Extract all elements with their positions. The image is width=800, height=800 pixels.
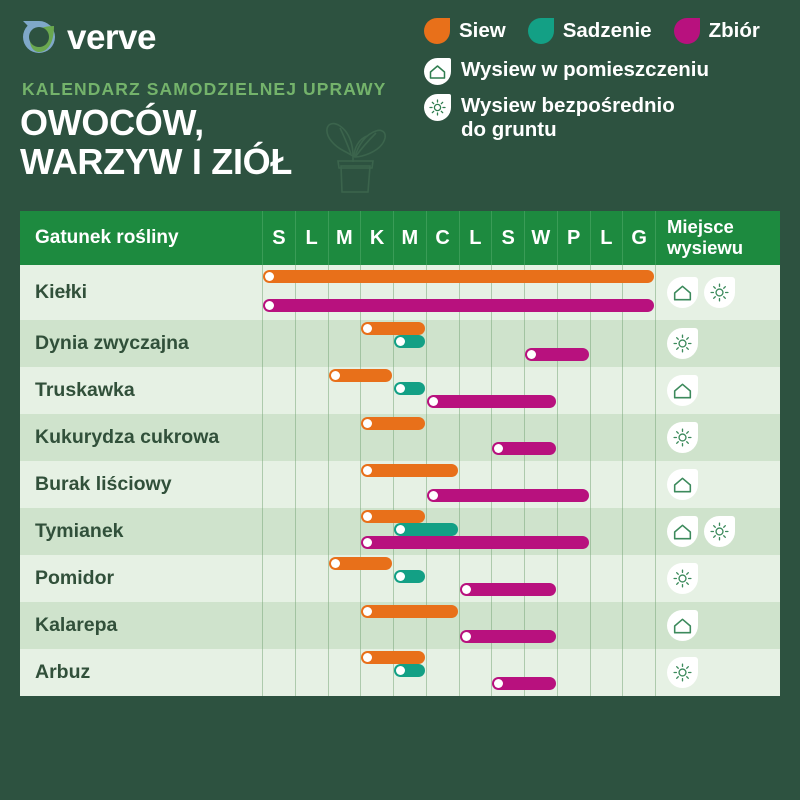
column-header-month-6: C (426, 211, 459, 265)
month-track (262, 508, 655, 555)
bar-start-dot (396, 525, 405, 534)
grid-line (590, 461, 591, 508)
sowing-place-cell (655, 649, 780, 696)
grid-line (459, 320, 460, 367)
bar-sadzenie (394, 664, 425, 677)
table-row: Truskawka (20, 367, 780, 414)
bar-start-dot (331, 371, 340, 380)
grid-line (590, 602, 591, 649)
column-header-place-line2: wysiewu (667, 237, 743, 258)
bar-start-dot (363, 653, 372, 662)
grid-line (590, 367, 591, 414)
potted-plant-outline-icon (306, 104, 401, 204)
bar-siew (361, 417, 425, 430)
sun-icon (667, 422, 698, 453)
grid-line (557, 555, 558, 602)
month-track (262, 602, 655, 649)
grid-line (557, 602, 558, 649)
bar-start-dot (265, 301, 274, 310)
grid-line (426, 649, 427, 696)
grid-line (328, 414, 329, 461)
bar-start-dot (462, 632, 471, 641)
legend: Siew Sadzenie Zbiór Wysiew w pomieszczen… (424, 18, 794, 141)
plant-name: Dynia zwyczajna (20, 320, 262, 367)
bar-siew (329, 557, 393, 570)
grid-line (295, 414, 296, 461)
bar-sadzenie (394, 570, 425, 583)
column-headers-months: SLMKMCLSWPLG (262, 211, 655, 265)
bar-zbior (492, 677, 556, 690)
legend-label-outdoor: Wysiew bezpośrednio do gruntu (461, 94, 675, 141)
planting-calendar-table: Gatunek rośliny SLMKMCLSWPLG Miejsce wys… (20, 211, 780, 696)
legend-label-indoor: Wysiew w pomieszczeniu (461, 58, 709, 82)
kicker-text: KALENDARZ SAMODZIELNEJ UPRAWY (22, 79, 386, 100)
grid-line (622, 461, 623, 508)
grid-line (491, 414, 492, 461)
bar-sadzenie (394, 382, 425, 395)
bar-siew (361, 605, 457, 618)
house-icon (667, 375, 698, 406)
page-title-line1: OWOCÓW, (20, 104, 292, 143)
grid-line (557, 367, 558, 414)
droplet-marker-icon (424, 18, 450, 44)
column-header-month-10: P (557, 211, 590, 265)
table-row: Tymianek (20, 508, 780, 555)
grid-line (590, 414, 591, 461)
bar-zbior (460, 630, 556, 643)
bar-start-dot (429, 491, 438, 500)
grid-line (426, 320, 427, 367)
grid-line (557, 414, 558, 461)
bar-zbior (263, 299, 654, 312)
column-header-month-9: W (524, 211, 557, 265)
sowing-place-cell (655, 508, 780, 555)
bar-siew (361, 322, 425, 335)
plant-name: Pomidor (20, 555, 262, 602)
bar-zbior (492, 442, 556, 455)
column-header-month-12: G (622, 211, 655, 265)
plant-name: Tymianek (20, 508, 262, 555)
sowing-place-cell (655, 602, 780, 649)
column-header-month-11: L (590, 211, 623, 265)
legend-label-outdoor-line1: Wysiew bezpośrednio (461, 94, 675, 117)
grid-line (262, 602, 263, 649)
column-header-place: Miejsce wysiewu (655, 211, 780, 265)
verve-droplet-leaf-logo-icon (20, 18, 58, 56)
grid-line (459, 649, 460, 696)
table-row: Arbuz (20, 649, 780, 696)
plant-name: Burak liściowy (20, 461, 262, 508)
legend-label-zbior: Zbiór (709, 19, 760, 43)
grid-line (426, 555, 427, 602)
grid-line (622, 367, 623, 414)
brand-logo: verve (20, 18, 156, 56)
house-icon (424, 58, 451, 85)
bar-start-dot (265, 272, 274, 281)
grid-line (590, 508, 591, 555)
sun-icon (704, 516, 735, 547)
table-row: Burak liściowy (20, 461, 780, 508)
legend-item-sadzenie: Sadzenie (528, 18, 652, 44)
bar-zbior (525, 348, 589, 361)
sowing-place-cell (655, 461, 780, 508)
page-title-line2: WARZYW I ZIÓŁ (20, 143, 292, 182)
grid-line (295, 461, 296, 508)
bar-start-dot (527, 350, 536, 359)
grid-line (524, 320, 525, 367)
sowing-place-cell (655, 414, 780, 461)
column-header-month-7: L (459, 211, 492, 265)
column-header-month-1: S (262, 211, 295, 265)
plant-name: Arbuz (20, 649, 262, 696)
sun-icon (667, 563, 698, 594)
bar-start-dot (331, 559, 340, 568)
house-icon (667, 277, 698, 308)
bar-siew (361, 510, 425, 523)
bar-siew (263, 270, 654, 283)
bar-start-dot (363, 466, 372, 475)
grid-line (459, 414, 460, 461)
legend-phase-row: Siew Sadzenie Zbiór (424, 18, 794, 44)
bar-start-dot (396, 337, 405, 346)
month-track (262, 367, 655, 414)
bar-start-dot (363, 607, 372, 616)
grid-line (295, 508, 296, 555)
sun-icon (704, 277, 735, 308)
sun-icon (424, 94, 451, 121)
sun-icon (667, 657, 698, 688)
grid-line (622, 602, 623, 649)
brand-name: verve (67, 20, 156, 55)
bar-sadzenie (394, 335, 425, 348)
column-header-place-line1: Miejsce (667, 216, 734, 237)
column-header-species: Gatunek rośliny (20, 211, 262, 265)
grid-line (262, 508, 263, 555)
grid-line (622, 414, 623, 461)
month-track (262, 320, 655, 367)
grid-line (328, 649, 329, 696)
grid-line (459, 555, 460, 602)
table-row: Kiełki (20, 265, 780, 320)
bar-zbior (361, 536, 588, 549)
sowing-place-cell (655, 320, 780, 367)
grid-line (622, 320, 623, 367)
grid-line (295, 649, 296, 696)
grid-line (262, 367, 263, 414)
month-track (262, 265, 655, 320)
plant-name: Truskawka (20, 367, 262, 414)
plant-name: Kalarepa (20, 602, 262, 649)
sowing-place-cell (655, 265, 780, 320)
sun-icon (667, 328, 698, 359)
droplet-marker-icon (674, 18, 700, 44)
legend-item-indoor: Wysiew w pomieszczeniu (424, 58, 794, 85)
grid-line (328, 508, 329, 555)
grid-line (590, 555, 591, 602)
grid-line (262, 414, 263, 461)
grid-line (295, 602, 296, 649)
table-header-row: Gatunek rośliny SLMKMCLSWPLG Miejsce wys… (20, 211, 780, 265)
bar-siew (361, 651, 425, 664)
grid-line (328, 602, 329, 649)
table-row: Dynia zwyczajna (20, 320, 780, 367)
grid-line (295, 555, 296, 602)
bar-zbior (427, 489, 589, 502)
grid-line (328, 461, 329, 508)
bar-siew (329, 369, 393, 382)
table-row: Pomidor (20, 555, 780, 602)
grid-line (622, 508, 623, 555)
bar-start-dot (494, 444, 503, 453)
legend-item-outdoor: Wysiew bezpośrednio do gruntu (424, 94, 794, 141)
bar-sadzenie (394, 523, 458, 536)
month-track (262, 461, 655, 508)
grid-line (491, 320, 492, 367)
bar-start-dot (396, 666, 405, 675)
bar-start-dot (396, 384, 405, 393)
bar-zbior (460, 583, 556, 596)
grid-line (426, 414, 427, 461)
bar-start-dot (363, 419, 372, 428)
house-icon (667, 469, 698, 500)
grid-line (328, 320, 329, 367)
grid-line (622, 555, 623, 602)
grid-line (295, 367, 296, 414)
sowing-place-cell (655, 555, 780, 602)
legend-item-zbior: Zbiór (674, 18, 760, 44)
grid-line (622, 649, 623, 696)
grid-line (491, 649, 492, 696)
bar-start-dot (429, 397, 438, 406)
sowing-place-cell (655, 367, 780, 414)
bar-start-dot (462, 585, 471, 594)
month-track (262, 414, 655, 461)
droplet-marker-icon (528, 18, 554, 44)
bar-siew (361, 464, 457, 477)
column-header-month-3: M (328, 211, 361, 265)
grid-line (459, 602, 460, 649)
legend-label-sadzenie: Sadzenie (563, 19, 652, 43)
legend-label-siew: Siew (459, 19, 506, 43)
bar-start-dot (494, 679, 503, 688)
grid-line (590, 320, 591, 367)
house-icon (667, 610, 698, 641)
grid-line (262, 649, 263, 696)
plant-name: Kukurydza cukrowa (20, 414, 262, 461)
table-row: Kukurydza cukrowa (20, 414, 780, 461)
bar-zbior (427, 395, 556, 408)
column-header-month-5: M (393, 211, 426, 265)
month-track (262, 649, 655, 696)
grid-line (590, 649, 591, 696)
grid-line (295, 320, 296, 367)
table-row: Kalarepa (20, 602, 780, 649)
legend-label-outdoor-line2: do gruntu (461, 118, 557, 141)
column-header-month-4: K (360, 211, 393, 265)
column-header-month-2: L (295, 211, 328, 265)
grid-line (262, 555, 263, 602)
table-body: KiełkiDynia zwyczajnaTruskawkaKukurydza … (20, 265, 780, 696)
grid-line (426, 367, 427, 414)
legend-item-siew: Siew (424, 18, 506, 44)
month-track (262, 555, 655, 602)
page-title: OWOCÓW, WARZYW I ZIÓŁ (20, 104, 292, 181)
grid-line (557, 649, 558, 696)
bar-start-dot (363, 512, 372, 521)
bar-start-dot (363, 538, 372, 547)
infographic-page: verve KALENDARZ SAMODZIELNEJ UPRAWY OWOC… (0, 0, 800, 800)
bar-start-dot (363, 324, 372, 333)
grid-line (262, 320, 263, 367)
plant-name: Kiełki (20, 265, 262, 320)
bar-start-dot (396, 572, 405, 581)
house-icon (667, 516, 698, 547)
column-header-month-8: S (491, 211, 524, 265)
grid-line (262, 461, 263, 508)
